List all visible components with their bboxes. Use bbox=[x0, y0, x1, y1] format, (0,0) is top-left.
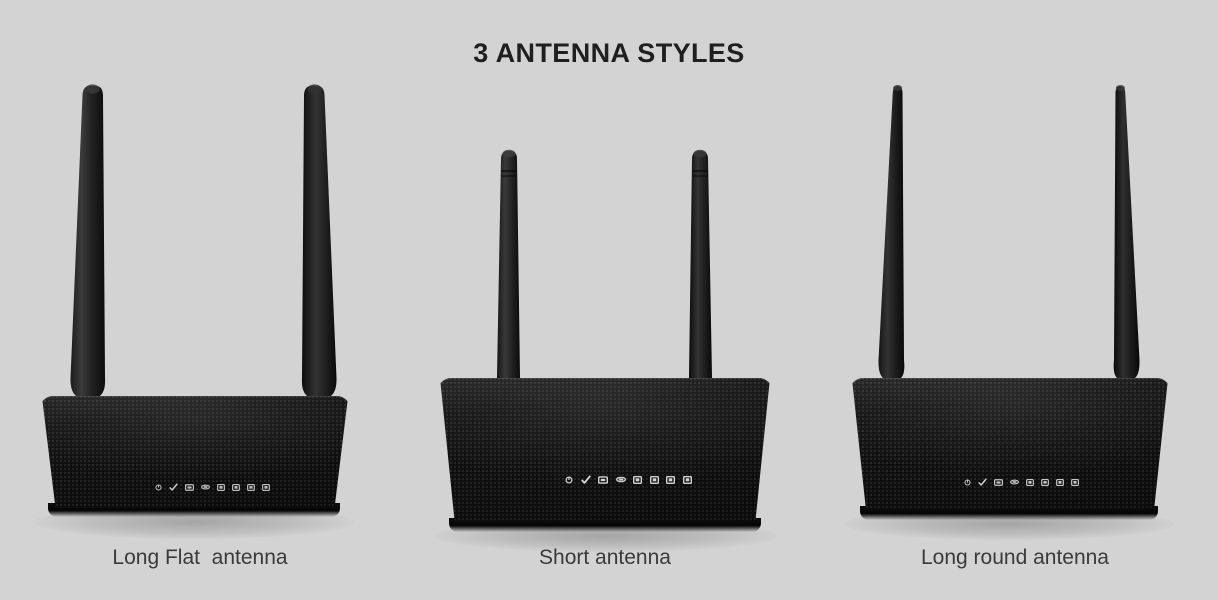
antenna-long-round-right bbox=[1080, 80, 1150, 395]
lan1-led-icon bbox=[633, 476, 642, 484]
wifi-led-icon bbox=[581, 475, 591, 484]
led-indicator-strip bbox=[155, 481, 270, 493]
router-body bbox=[850, 378, 1170, 510]
router-illustration-long-flat bbox=[0, 0, 400, 540]
power-led-icon bbox=[155, 484, 162, 491]
antenna-short-left bbox=[487, 145, 537, 395]
lan2-led-icon bbox=[1041, 479, 1049, 486]
power-led-icon bbox=[565, 476, 573, 484]
wifi-led-icon bbox=[169, 483, 178, 491]
router-illustration-short bbox=[405, 0, 805, 540]
product-caption-short-antenna: Short antenna bbox=[405, 546, 805, 570]
antenna-long-flat-right bbox=[272, 78, 352, 408]
product-caption-long-flat-antenna: Long Flat antenna bbox=[0, 546, 400, 570]
wan-led-icon bbox=[616, 476, 626, 483]
system-led-icon bbox=[598, 476, 608, 484]
antenna-long-flat-left bbox=[62, 78, 142, 408]
lan4-led-icon bbox=[683, 476, 692, 484]
wan-led-icon bbox=[201, 484, 210, 490]
lan3-led-icon bbox=[247, 484, 255, 491]
antenna-short-right bbox=[674, 145, 724, 395]
product-comparison-image: 3 ANTENNA STYLES bbox=[0, 0, 1218, 600]
lan2-led-icon bbox=[650, 476, 659, 484]
lan1-led-icon bbox=[217, 484, 225, 491]
system-led-icon bbox=[185, 484, 194, 491]
product-card-long-round-antenna: Long round antenna bbox=[812, 0, 1218, 600]
product-card-short-antenna: Short antenna bbox=[405, 0, 805, 600]
wifi-led-icon bbox=[978, 478, 987, 486]
antenna-long-round-left bbox=[868, 80, 938, 395]
led-indicator-strip bbox=[565, 473, 689, 486]
lan1-led-icon bbox=[1026, 479, 1034, 486]
system-led-icon bbox=[994, 479, 1003, 486]
lan3-led-icon bbox=[666, 476, 675, 484]
lan2-led-icon bbox=[232, 484, 240, 491]
product-caption-long-round-antenna: Long round antenna bbox=[812, 546, 1218, 570]
product-card-long-flat-antenna: Long Flat antenna bbox=[0, 0, 400, 600]
lan3-led-icon bbox=[1056, 479, 1064, 486]
lan4-led-icon bbox=[262, 484, 270, 491]
router-body bbox=[438, 378, 772, 522]
power-led-icon bbox=[964, 479, 971, 486]
led-indicator-strip bbox=[964, 476, 1082, 488]
wan-led-icon bbox=[1010, 479, 1019, 485]
router-illustration-long-round bbox=[812, 0, 1218, 540]
lan4-led-icon bbox=[1071, 479, 1079, 486]
